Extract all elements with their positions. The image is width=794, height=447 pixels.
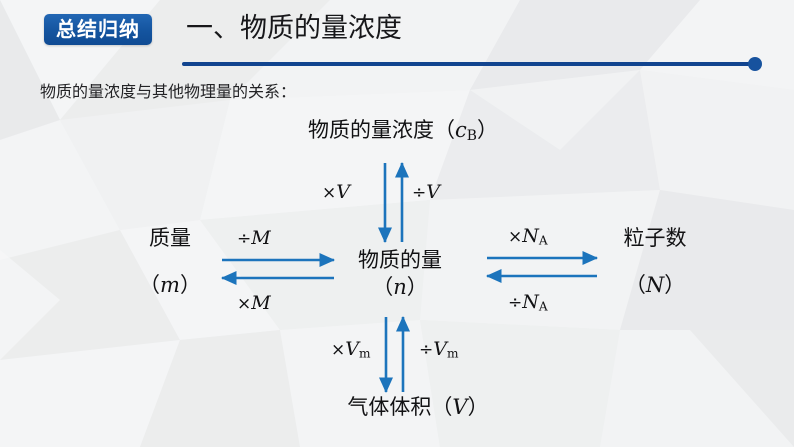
edge-label-times-NA: ×NA [508,227,548,247]
node-gas-volume: 气体体积（V） [328,394,508,421]
edge-label-divide-M: ÷M [237,229,271,249]
node-molar-concentration: 物质的量浓度（cB） [280,117,526,146]
slide-canvas: 总结归纳 一、物质的量浓度 物质的量浓度与其他物理量的关系： [0,0,794,447]
node-right-symbol: N [646,273,664,297]
node-bottom-label: 气体体积 [347,395,431,419]
node-right-close-paren: ） [664,273,685,297]
edge-label-times-Vm: ×Vm [331,340,371,360]
node-center-close-paren: ） [407,275,428,299]
node-bottom-open-paren: （ [431,395,452,419]
section-badge: 总结归纳 [44,14,152,45]
node-right-label: 粒子数 [624,226,687,250]
node-left-label: 质量 [149,226,191,250]
edge-label-times-M: ×M [237,294,271,314]
node-bottom-symbol: V [452,395,467,419]
page-title: 一、物质的量浓度 [186,11,402,47]
edge-label-times-V: ×V [322,183,350,203]
node-top-label: 物质的量浓度 [308,118,434,142]
node-right-open-paren: （ [625,273,646,297]
node-top-close-paren: ） [477,118,498,142]
slide-header: 总结归纳 一、物质的量浓度 [0,0,794,78]
node-amount-of-substance: 物质的量 （n） [345,247,455,301]
node-center-symbol: n [393,275,407,299]
node-mass: 质量 （m） [116,225,224,299]
node-left-symbol: m [160,273,180,297]
node-center-label: 物质的量 [358,248,442,272]
rule-line [182,62,756,66]
edge-label-divide-Vm: ÷Vm [419,340,459,360]
title-rule [0,56,794,74]
node-left-open-paren: （ [139,273,160,297]
node-center-open-paren: （ [372,275,393,299]
edge-label-divide-NA: ÷NA [508,293,548,313]
node-particle-count: 粒子数 （N） [600,225,710,299]
subtitle-text: 物质的量浓度与其他物理量的关系： [40,82,296,103]
node-bottom-close-paren: ） [468,395,489,419]
edge-label-divide-V: ÷V [412,183,440,203]
node-top-open-paren: （ [434,118,455,142]
node-left-close-paren: ） [180,273,201,297]
node-top-symbol: cB [455,118,477,142]
rule-end-dot [748,57,762,71]
